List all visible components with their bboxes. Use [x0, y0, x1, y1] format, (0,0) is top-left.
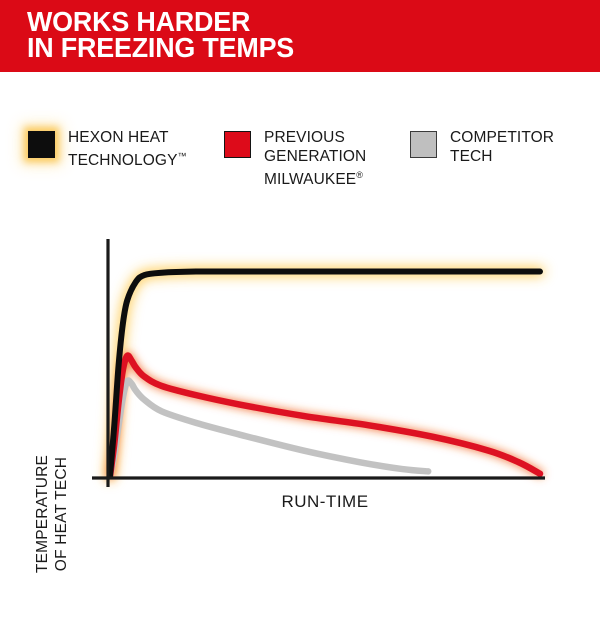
- x-axis-label: RUN-TIME: [110, 492, 540, 512]
- legend-swatch-gray-icon: [410, 131, 437, 158]
- legend-item-hexon-heat-technology: HEXON HEAT TECHNOLOGY™: [28, 128, 224, 170]
- legend-item-competitor-tech: COMPETITOR TECH: [410, 128, 580, 166]
- header-banner: WORKS HARDER IN FREEZING TEMPS: [0, 0, 600, 72]
- registered-symbol: ®: [356, 170, 363, 180]
- chart-legend: HEXON HEAT TECHNOLOGY™ PREVIOUS GENERATI…: [28, 128, 588, 189]
- legend-label-previous-text: PREVIOUS GENERATION MILWAUKEE: [264, 129, 366, 188]
- legend-item-previous-generation-milwaukee: PREVIOUS GENERATION MILWAUKEE®: [224, 128, 410, 189]
- legend-label-hexon-text: HEXON HEAT TECHNOLOGY: [68, 129, 178, 169]
- trademark-symbol: ™: [178, 151, 187, 161]
- legend-label-competitor-text: COMPETITOR TECH: [450, 129, 554, 165]
- y-axis-label: TEMPERATURE OF HEAT TECH: [33, 399, 71, 629]
- legend-swatch-red-icon: [224, 131, 251, 158]
- page-title: WORKS HARDER IN FREEZING TEMPS: [27, 9, 545, 61]
- chart-canvas: [0, 225, 600, 535]
- legend-label-hexon: HEXON HEAT TECHNOLOGY™: [68, 128, 187, 170]
- legend-label-previous: PREVIOUS GENERATION MILWAUKEE®: [264, 128, 366, 189]
- line-chart: TEMPERATURE OF HEAT TECH: [0, 225, 600, 535]
- legend-swatch-black-icon: [28, 131, 55, 158]
- legend-label-competitor: COMPETITOR TECH: [450, 128, 554, 166]
